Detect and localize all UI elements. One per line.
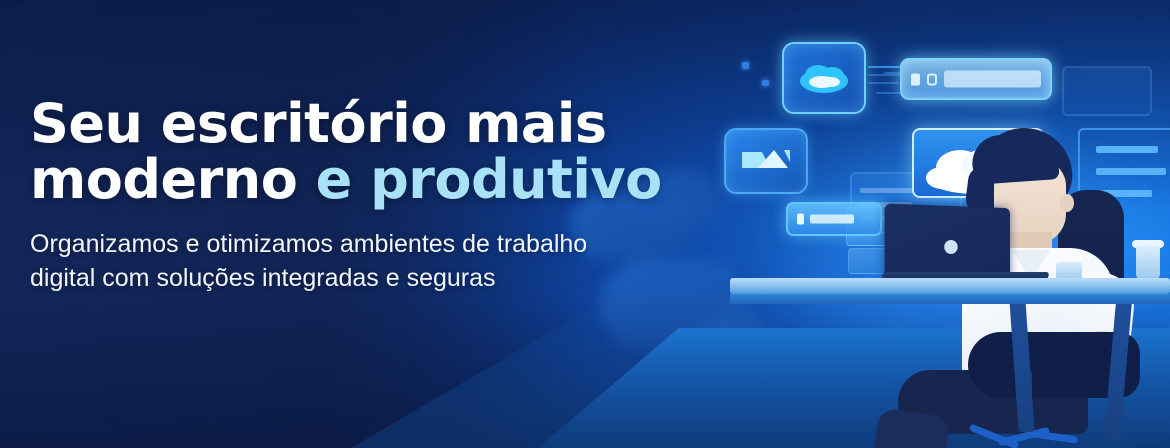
hero-copy: Seu escritório mais moderno e produtivo …	[30, 96, 710, 295]
search-bar-card[interactable]	[900, 58, 1052, 100]
headline-accent: e produtivo	[316, 148, 662, 211]
page-subtitle: Organizamos e otimizamos ambientes de tr…	[30, 228, 710, 295]
decor-dot	[762, 80, 769, 86]
search-input[interactable]	[944, 71, 1041, 88]
laptop-logo	[944, 240, 957, 254]
image-icon	[740, 146, 792, 176]
menu-icon	[927, 73, 937, 85]
connector-line	[868, 74, 902, 76]
connector-line	[868, 66, 902, 68]
headline-line-2: moderno e produtivo	[30, 152, 710, 208]
page-title: Seu escritório mais moderno e produtivo	[30, 96, 710, 208]
background-panel	[1062, 66, 1152, 116]
person-ear	[1060, 194, 1074, 212]
cup	[1136, 246, 1160, 280]
search-icon	[911, 73, 920, 85]
cloud-card[interactable]	[782, 42, 866, 114]
person-hair-front	[970, 131, 1059, 185]
bar-icon	[797, 214, 804, 225]
hero-banner: Seu escritório mais moderno e produtivo …	[0, 0, 1170, 448]
subheadline-line-1: Organizamos e otimizamos ambientes de tr…	[30, 228, 710, 262]
photo-card[interactable]	[724, 128, 808, 194]
headline-line-1: Seu escritório mais	[30, 96, 710, 152]
desk-surface	[730, 278, 1170, 294]
connector-line	[868, 82, 898, 84]
connector-line	[876, 92, 902, 94]
subheadline-line-2: digital com soluções integradas e segura…	[30, 262, 710, 296]
bar-progress	[810, 215, 854, 224]
headline-word-moderno: moderno	[30, 148, 297, 211]
status-bar-card[interactable]	[786, 202, 882, 236]
cloud-icon	[798, 62, 850, 94]
desk-edge	[730, 294, 1170, 304]
decor-dot	[742, 62, 749, 69]
